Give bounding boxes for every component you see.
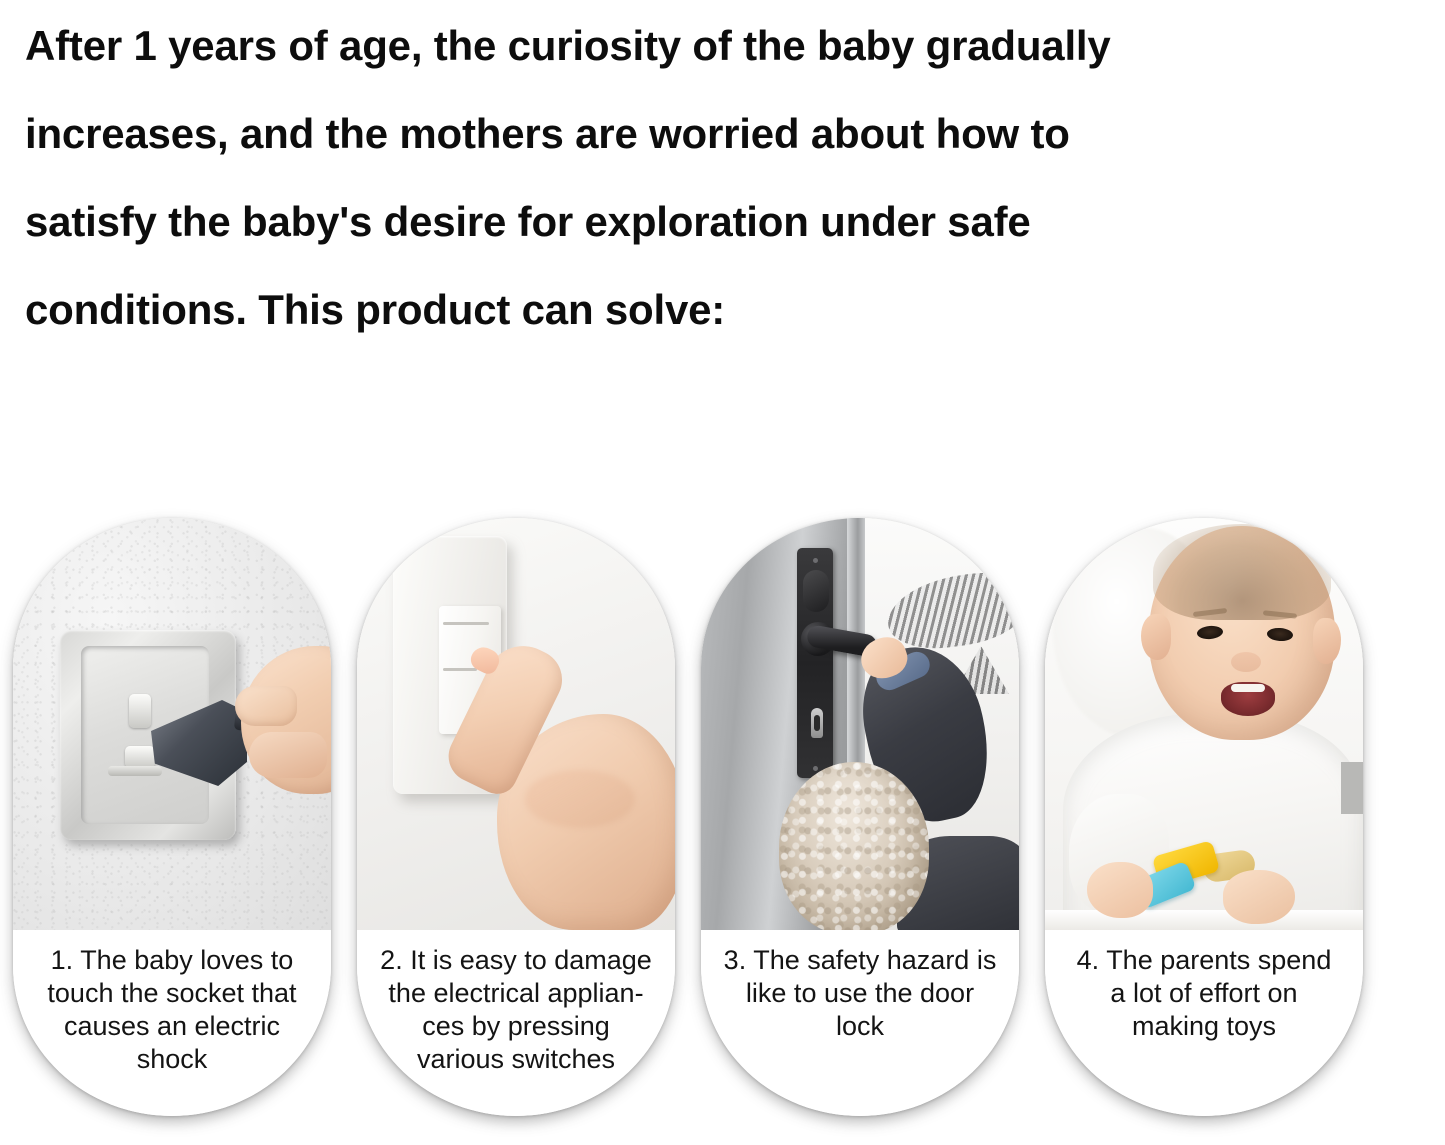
baby-hand-left xyxy=(1087,862,1153,918)
caption-area-3: 3. The safety hazard is like to use the … xyxy=(701,930,1019,1116)
caption-text-3: 3. The safety hazard is like to use the … xyxy=(724,944,997,1043)
baby-hand-right xyxy=(1223,870,1295,924)
caption-text-4: 4. The parents spend a lot of effort on … xyxy=(1077,944,1332,1043)
page-headline: After 1 years of age, the curiosity of t… xyxy=(25,2,1425,354)
problem-card-1: 1. The baby loves to touch the socket th… xyxy=(13,518,331,1116)
lock-screw-top xyxy=(813,558,818,563)
photo-door-lock xyxy=(701,518,1019,930)
caption-area-2: 2. It is easy to damage the electrical a… xyxy=(357,930,675,1116)
baby-mouth xyxy=(1221,682,1275,716)
caption-area-1: 1. The baby loves to touch the socket th… xyxy=(13,930,331,1116)
photo-baby-toy xyxy=(1045,518,1363,930)
child-head xyxy=(779,762,929,930)
photo-socket xyxy=(13,518,331,930)
benefit-card-row: 1. The baby loves to touch the socket th… xyxy=(0,518,1445,1128)
caption-text-2: 2. It is easy to damage the electrical a… xyxy=(380,944,652,1076)
finger xyxy=(249,732,327,778)
baby-hair xyxy=(1153,524,1331,620)
highchair-tray xyxy=(1045,910,1363,930)
background-grey-block xyxy=(1341,762,1363,814)
socket-prong-upper xyxy=(129,694,151,728)
thumb-turn-knob xyxy=(803,570,829,612)
lock-screw-bottom xyxy=(813,766,818,771)
socket-prong-lower xyxy=(125,746,155,768)
problem-card-4: 4. The parents spend a lot of effort on … xyxy=(1045,518,1363,1116)
caption-area-4: 4. The parents spend a lot of effort on … xyxy=(1045,930,1363,1116)
problem-card-3: 3. The safety hazard is like to use the … xyxy=(701,518,1019,1116)
baby-ear-left xyxy=(1141,614,1171,660)
baby-nose xyxy=(1231,652,1261,672)
switch-groove-upper xyxy=(443,622,489,625)
switch-groove-lower xyxy=(443,668,477,671)
photo-light-switch xyxy=(357,518,675,930)
socket-earth-strip xyxy=(108,766,162,776)
thumb xyxy=(235,686,297,726)
knuckle-shading xyxy=(525,770,635,828)
keyhole-cylinder xyxy=(811,708,823,738)
problem-card-2: 2. It is easy to damage the electrical a… xyxy=(357,518,675,1116)
caption-text-1: 1. The baby loves to touch the socket th… xyxy=(47,944,296,1076)
